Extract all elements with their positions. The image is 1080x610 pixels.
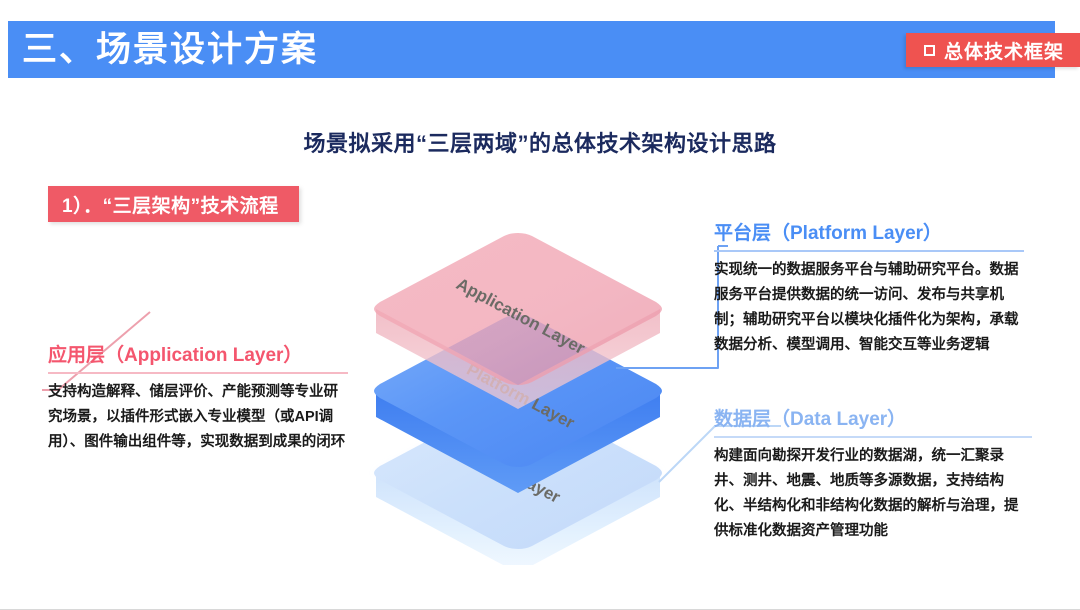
callout-data: 数据层（Data Layer） 构建面向勘探开发行业的数据湖，统一汇聚录井、测井… <box>714 404 1032 544</box>
status-badge: 总体技术框架 <box>906 33 1080 67</box>
callout-data-body: 构建面向勘探开发行业的数据湖，统一汇聚录井、测井、地震、地质等多源数据，支持结构… <box>714 438 1032 544</box>
subtitle: 场景拟采用“三层两域”的总体技术架构设计思路 <box>0 126 1080 158</box>
section-tag: 1）．“三层架构”技术流程 <box>48 186 299 222</box>
callout-platform-body: 实现统一的数据服务平台与辅助研究平台。数据服务平台提供数据的统一访问、发布与共享… <box>714 252 1024 358</box>
callout-platform: 平台层（Platform Layer） 实现统一的数据服务平台与辅助研究平台。数… <box>714 218 1024 358</box>
callout-platform-heading: 平台层（Platform Layer） <box>714 218 1024 250</box>
callout-application-heading: 应用层（Application Layer） <box>48 340 348 372</box>
section-tag-label: 1）．“三层架构”技术流程 <box>62 191 279 218</box>
square-icon <box>924 45 935 56</box>
callout-data-heading: 数据层（Data Layer） <box>714 404 1032 436</box>
layer-stack-diagram: Data Layer Platform Layer Application La… <box>350 205 720 565</box>
status-badge-label: 总体技术框架 <box>944 37 1064 64</box>
callout-application-body: 支持构造解释、储层评价、产能预测等专业研究场景，以插件形式嵌入专业模型（或API… <box>48 374 348 455</box>
callout-application: 应用层（Application Layer） 支持构造解释、储层评价、产能预测等… <box>48 340 348 455</box>
page-title: 三、场景设计方案 <box>22 26 318 74</box>
